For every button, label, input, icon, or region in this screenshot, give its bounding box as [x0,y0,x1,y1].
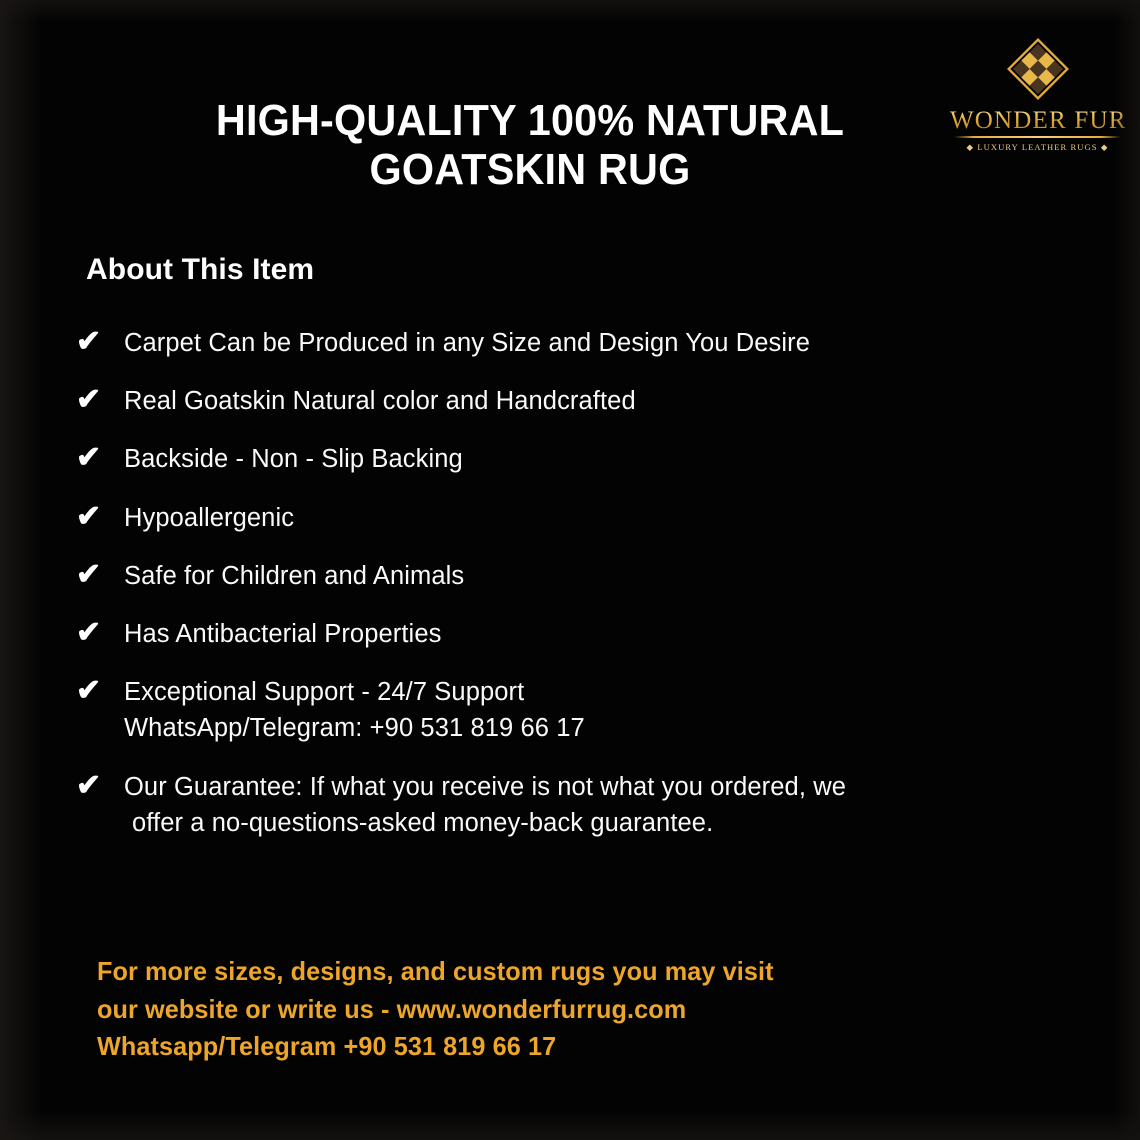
diamond-checker-icon [1001,32,1075,106]
list-item-label: Exceptional Support - 24/7 Support Whats… [124,674,585,746]
footer-line-1: For more sizes, designs, and custom rugs… [97,953,774,991]
title-line-2: GOATSKIN RUG [145,145,916,194]
check-icon: ✔ [72,500,124,534]
list-item: ✔ Safe for Children and Animals [72,558,1082,594]
list-item: ✔ Exceptional Support - 24/7 Support Wha… [72,674,1082,746]
list-item-line-1: Our Guarantee: If what you receive is no… [124,773,846,801]
check-icon: ✔ [72,674,124,708]
check-icon: ✔ [72,616,124,650]
feature-list: ✔ Carpet Can be Produced in any Size and… [72,325,1082,863]
list-item-label: Has Antibacterial Properties [124,616,441,652]
footer-line-3: Whatsapp/Telegram +90 531 819 66 17 [97,1028,774,1066]
page-title: HIGH-QUALITY 100% NATURAL GOATSKIN RUG [145,96,916,195]
list-item-label: Real Goatskin Natural color and Handcraf… [124,383,636,419]
brand-name: WONDER FUR [950,108,1125,133]
list-item-label: Safe for Children and Animals [124,558,464,594]
brand-name-text: WONDER FUR [950,107,1127,134]
list-item-label: Our Guarantee: If what you receive is no… [124,769,846,841]
list-item: ✔ Real Goatskin Natural color and Handcr… [72,383,1082,419]
check-icon: ✔ [72,383,124,417]
check-icon: ✔ [72,441,124,475]
list-item-label: Hypoallergenic [124,500,294,536]
list-item-label: Backside - Non - Slip Backing [124,441,463,477]
brand-tagline: ◆ LUXURY LEATHER RUGS ◆ [950,142,1125,153]
logo-divider [954,136,1121,138]
list-item-line-1: Exceptional Support - 24/7 Support [124,678,524,706]
poster-canvas: WONDER FUR ◆ LUXURY LEATHER RUGS ◆ HIGH-… [0,0,1140,1140]
list-item: ✔ Has Antibacterial Properties [72,616,1082,652]
list-item: ✔ Backside - Non - Slip Backing [72,441,1082,477]
list-item-label: Carpet Can be Produced in any Size and D… [124,325,810,361]
title-line-1: HIGH-QUALITY 100% NATURAL [145,96,916,145]
contact-footer: For more sizes, designs, and custom rugs… [97,953,774,1066]
list-item-line-2: WhatsApp/Telegram: +90 531 819 66 17 [124,710,585,746]
check-icon: ✔ [72,558,124,592]
about-this-item-heading: About This Item [86,253,314,287]
list-item: ✔ Hypoallergenic [72,500,1082,536]
list-item: ✔ Carpet Can be Produced in any Size and… [72,325,1082,361]
list-item: ✔ Our Guarantee: If what you receive is … [72,769,1082,841]
list-item-line-2: offer a no-questions-asked money-back gu… [124,805,846,841]
footer-line-2: our website or write us - www.wonderfurr… [97,991,774,1029]
check-icon: ✔ [72,769,124,803]
brand-logo: WONDER FUR ◆ LUXURY LEATHER RUGS ◆ [950,32,1125,153]
check-icon: ✔ [72,325,124,359]
